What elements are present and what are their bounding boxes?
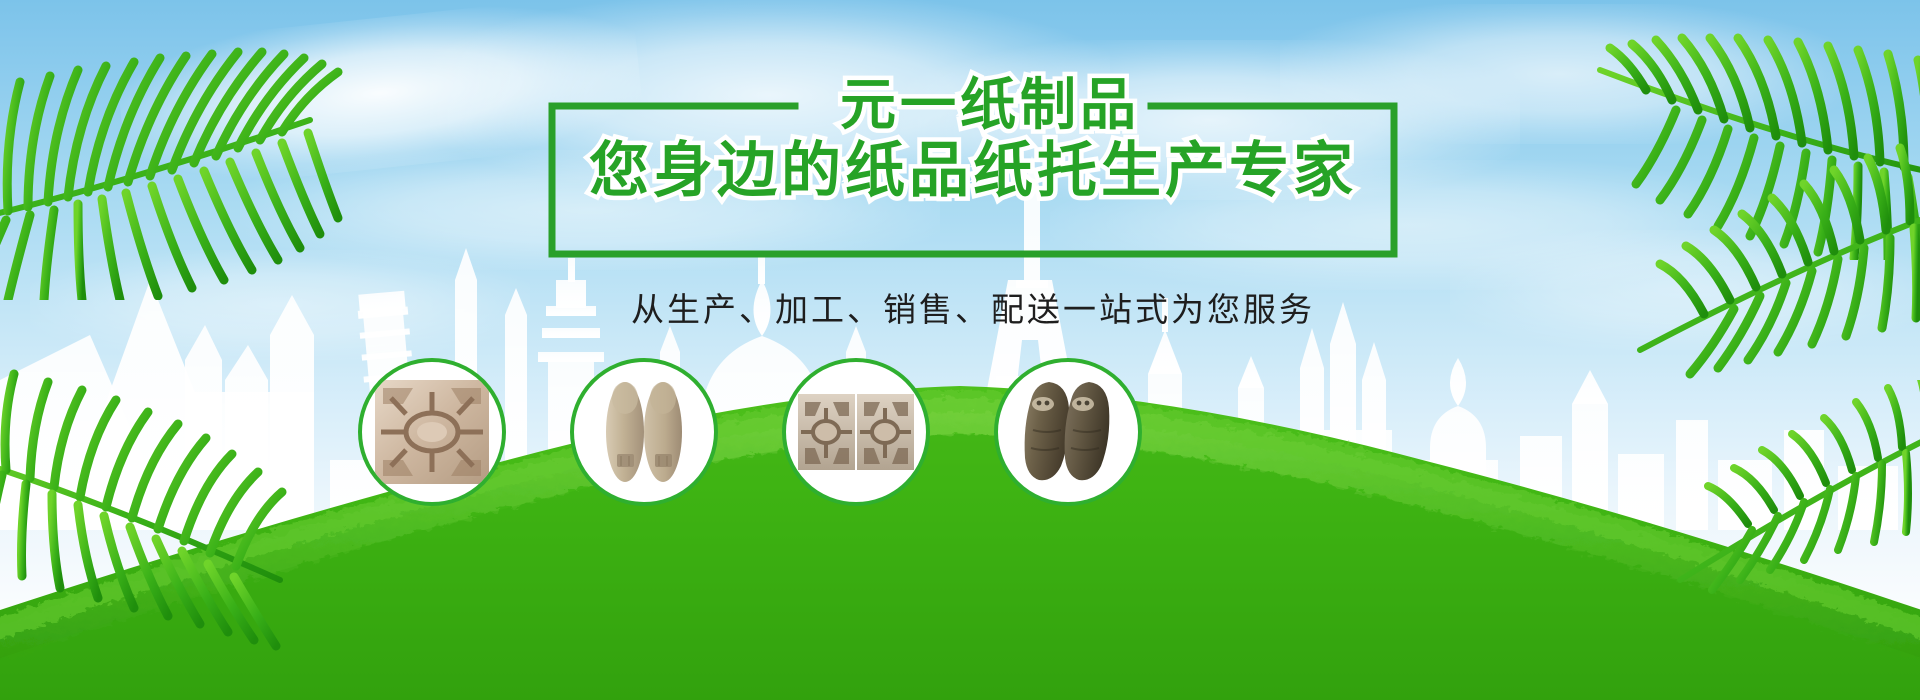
product-name-list: 纸浆模塑包装内托 纸浆鹿鞋扑纸托 纸浆模塑双联内托 纸浆鞋扑深色对 — [0, 0, 1, 1]
dark-shoe-tree-icon — [1009, 378, 1127, 486]
product-circle-4[interactable] — [994, 358, 1142, 506]
shoe-tree-pair-icon — [585, 378, 703, 486]
palm-frond-icon — [0, 0, 380, 300]
product-circle-1[interactable] — [358, 358, 506, 506]
palm-frond-icon — [1640, 380, 1920, 660]
palm-frond-icon — [1600, 140, 1920, 440]
product-circle-3[interactable] — [782, 358, 930, 506]
headline-block: 元一纸制品 您身边的纸品纸托生产专家 — [548, 98, 1398, 258]
palm-frond-icon — [0, 330, 340, 660]
company-slogan-title: 您身边的纸品纸托生产专家 — [548, 138, 1398, 204]
pulp-tray-icon — [373, 378, 491, 486]
cloud-wisp — [1450, 230, 1920, 350]
green-hill-graphic — [0, 330, 1920, 700]
service-subtitle: 从生产、加工、销售、配送一站式为您服务 — [548, 290, 1398, 330]
double-tray-icon — [797, 378, 915, 486]
cloud-wisp — [30, 250, 530, 360]
promotional-banner: 元一纸制品 您身边的纸品纸托生产专家 从生产、加工、销售、配送一站式为您服务 — [0, 0, 1920, 700]
palm-frond-icon — [1560, 0, 1920, 260]
product-circle-2[interactable] — [570, 358, 718, 506]
company-name-title: 元一纸制品 — [640, 76, 1340, 136]
